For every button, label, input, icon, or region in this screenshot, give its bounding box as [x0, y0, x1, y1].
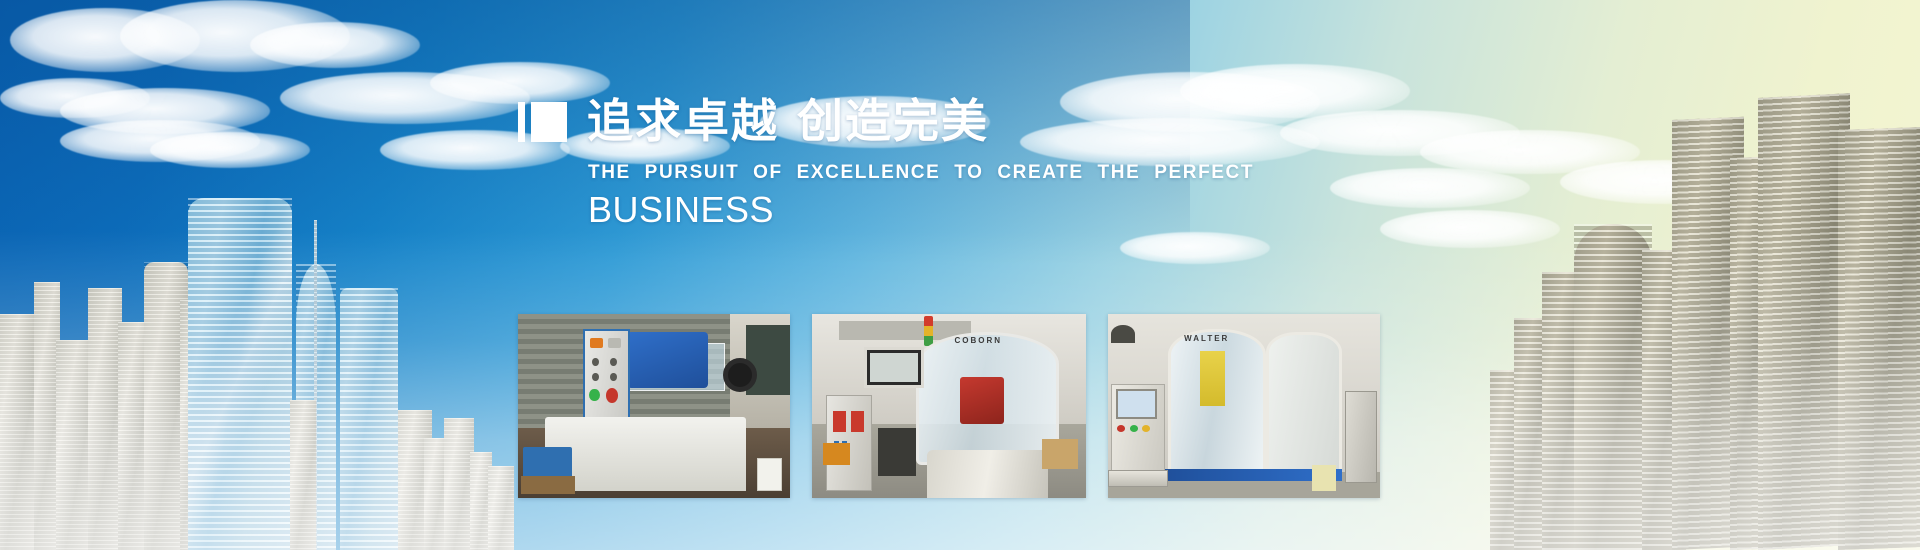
- glass-tower: [340, 288, 398, 550]
- building: [290, 400, 316, 550]
- stack-light-icon: [924, 316, 933, 346]
- machine-brand-label: WALTER: [1184, 334, 1229, 343]
- machine-base: [545, 417, 746, 491]
- headline-chinese: 追求卓越 创造完美: [587, 98, 989, 144]
- cable-carrier: [878, 428, 916, 476]
- cloud-icon: [1420, 130, 1640, 174]
- console-button-red[interactable]: [1117, 425, 1125, 432]
- building: [180, 300, 206, 550]
- cloud-icon: [60, 88, 270, 134]
- cloud-icon: [1640, 250, 1800, 284]
- building: [1642, 250, 1686, 550]
- cloud-icon: [280, 72, 530, 124]
- coolant-container: [1312, 465, 1336, 491]
- machine-drum-base: [927, 450, 1048, 498]
- machine-internals: [960, 377, 1004, 425]
- machine-enclosure-right: [1266, 332, 1342, 476]
- monitor-screen: [870, 353, 918, 381]
- building: [144, 262, 188, 550]
- cloud-icon: [1380, 210, 1560, 248]
- cardboard-box: [823, 443, 850, 465]
- knob: [592, 373, 599, 381]
- building: [1838, 127, 1920, 550]
- hero-banner: 追求卓越 创造完美 THE PURSUIT OF EXCELLENCE TO C…: [0, 0, 1920, 550]
- building: [88, 288, 122, 550]
- building: [488, 466, 514, 550]
- cloud-icon: [250, 22, 420, 68]
- control-cabinet: [1345, 391, 1378, 483]
- cloud-icon: [60, 120, 260, 162]
- machine-photo-strip: COBORN WALTER: [518, 314, 1380, 498]
- machine-internals: [1200, 351, 1224, 406]
- machine-photo-3[interactable]: WALTER: [1108, 314, 1380, 498]
- cloud-icon: [1280, 110, 1520, 156]
- console-button-green[interactable]: [1130, 425, 1138, 432]
- cloud-icon: [0, 78, 150, 118]
- round-tower: [1574, 224, 1652, 550]
- indicator-amber: [590, 338, 603, 348]
- indicator-grey: [608, 338, 621, 348]
- building: [1672, 117, 1744, 550]
- cloud-icon: [1120, 232, 1270, 264]
- cloud-icon: [1330, 168, 1530, 208]
- headline-row: 追求卓越 创造完美: [518, 98, 1238, 144]
- building: [236, 364, 264, 550]
- start-button[interactable]: [589, 389, 599, 401]
- left-cityscape: [0, 170, 520, 550]
- machine-photo-1[interactable]: [518, 314, 790, 498]
- cloud-icon: [120, 0, 350, 72]
- right-cityscape: [1490, 80, 1920, 550]
- keyboard[interactable]: [1108, 470, 1168, 487]
- building: [444, 418, 474, 550]
- knob: [610, 373, 617, 381]
- plastic-jug: [757, 458, 781, 491]
- building: [118, 322, 148, 550]
- logo-square-icon: [531, 102, 567, 142]
- cardboard-box: [1042, 439, 1078, 468]
- knob: [592, 358, 599, 366]
- building: [1490, 370, 1530, 550]
- hmi-monitor: [864, 347, 924, 387]
- cloud-icon: [10, 8, 200, 72]
- tower-sheen: [188, 198, 292, 550]
- building: [1758, 93, 1850, 550]
- cloud-icon: [1560, 160, 1770, 204]
- headline-business-word: BUSINESS: [588, 190, 1238, 230]
- building: [424, 438, 448, 550]
- building: [398, 410, 432, 550]
- wall-lamp-icon: [1111, 325, 1135, 343]
- headline-block: 追求卓越 创造完美 THE PURSUIT OF EXCELLENCE TO C…: [518, 98, 1238, 230]
- building: [1730, 157, 1766, 550]
- cnc-screen: [1116, 389, 1157, 418]
- spire-tower: [296, 264, 336, 550]
- knob: [610, 358, 617, 366]
- logo-bar-icon: [518, 102, 525, 142]
- cloud-icon: [150, 132, 310, 168]
- machine-brand-label: COBORN: [954, 336, 1002, 345]
- wooden-box: [521, 476, 575, 494]
- building: [56, 340, 94, 550]
- building: [1542, 272, 1588, 550]
- headline-subtitle-english: THE PURSUIT OF EXCELLENCE TO CREATE THE …: [588, 162, 1238, 184]
- machine-photo-2[interactable]: COBORN: [812, 314, 1086, 498]
- building: [470, 452, 492, 550]
- cabinet-label: [833, 411, 846, 432]
- grinding-head: [627, 332, 709, 387]
- cabinet-label: [851, 411, 864, 432]
- control-panel: [583, 329, 629, 425]
- building: [1514, 318, 1548, 550]
- spire-needle: [314, 220, 317, 550]
- building: [0, 314, 38, 550]
- emergency-stop-button[interactable]: [606, 388, 619, 404]
- logo-mark: [518, 100, 567, 142]
- building: [34, 282, 60, 550]
- building: [200, 338, 240, 550]
- console-button-amber[interactable]: [1142, 425, 1150, 432]
- glass-tower: [188, 198, 292, 550]
